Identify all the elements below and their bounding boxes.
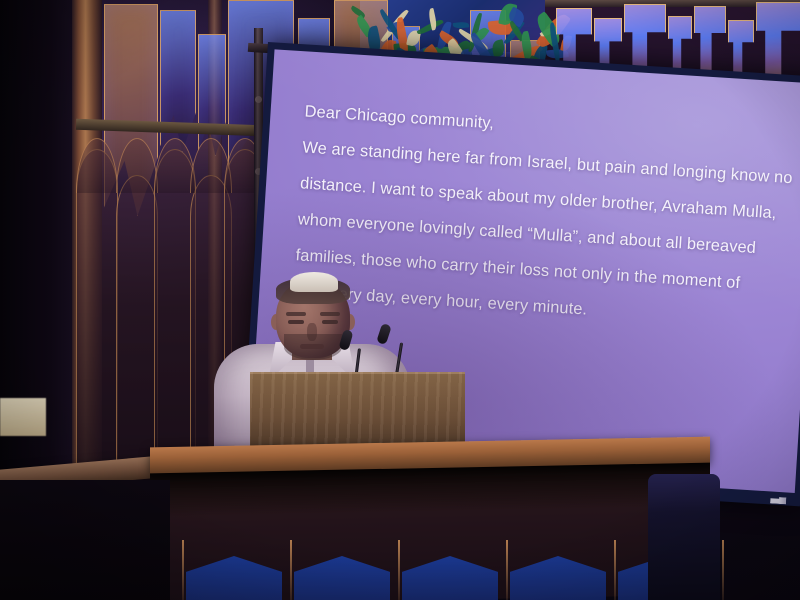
pole-bolt <box>255 96 262 103</box>
bimah-gold-rib <box>614 540 616 600</box>
loudspeaker-cabinet <box>648 474 720 600</box>
eye-right <box>322 320 338 324</box>
bimah-gold-rib <box>398 540 400 600</box>
bimah-gold-rib <box>182 540 184 600</box>
bimah-gold-rib <box>722 540 724 600</box>
eyebrow-right <box>320 312 340 316</box>
kippah <box>290 272 338 292</box>
bimah-gold-rib <box>506 540 508 600</box>
foreground-shadow <box>0 480 170 600</box>
wall-arch-2 <box>116 175 158 480</box>
bimah-gold-rib <box>290 540 292 600</box>
eye-left <box>288 320 304 324</box>
mouth <box>300 344 324 349</box>
wall-arch-1 <box>76 149 118 480</box>
lit-window-panel <box>0 398 46 436</box>
screenshot-scene: Dear Chicago community,We are standing h… <box>0 0 800 600</box>
eyebrow-left <box>286 312 306 316</box>
